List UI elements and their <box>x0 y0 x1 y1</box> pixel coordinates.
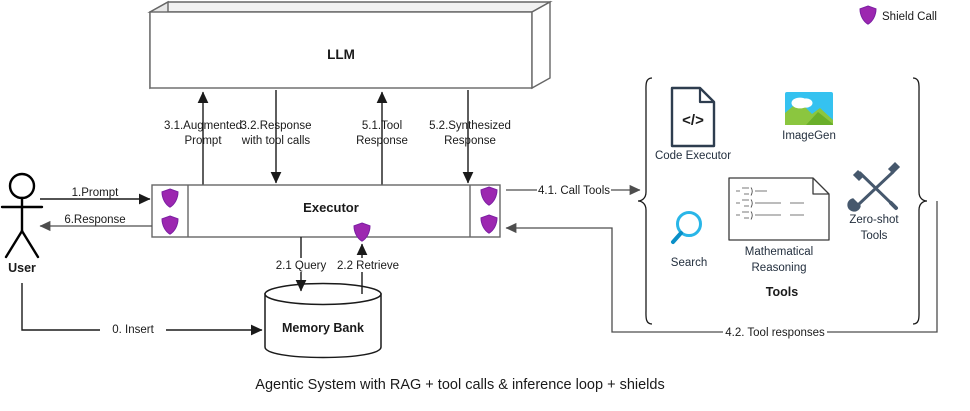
edge-label-retrieve: 2.2 Retrieve <box>337 260 399 272</box>
llm-label: LLM <box>327 47 355 62</box>
edge-label-call-tools: 4.1. Call Tools <box>538 185 610 197</box>
edge-label-tool-response-line1: 5.1.Tool <box>362 120 402 132</box>
memory-bank-label: Memory Bank <box>282 321 364 335</box>
tool-label-code-executor: Code Executor <box>655 150 731 162</box>
edge-label-response-tool-calls-line2: with tool calls <box>241 135 311 147</box>
edge-prompt: 1.Prompt <box>40 187 150 199</box>
shield-icon <box>354 223 370 241</box>
legend-label: Shield Call <box>882 11 937 23</box>
executor-label: Executor <box>303 200 359 215</box>
tool-code-executor[interactable]: </> Code Executor <box>655 88 731 162</box>
user-node[interactable]: User <box>2 174 42 275</box>
user-label: User <box>8 261 36 275</box>
edge-response: 6.Response <box>40 214 152 226</box>
shield-icon <box>860 6 876 24</box>
edge-label-response: 6.Response <box>64 214 125 226</box>
edge-label-query: 2.1 Query <box>276 260 327 272</box>
tool-label-math-line1: Mathematical <box>745 246 813 258</box>
edge-label-tool-response-line2: Response <box>356 135 408 147</box>
diagram-canvas: LLM 3.1.Augmented Prompt 3.2.Response wi… <box>0 0 970 411</box>
edge-label-prompt: 1.Prompt <box>72 187 119 199</box>
edge-label-response-tool-calls-line1: 3.2.Response <box>241 120 312 132</box>
edge-insert: 0. Insert <box>22 283 262 336</box>
tool-search[interactable]: Search <box>671 213 707 270</box>
edge-call-tools: 4.1. Call Tools <box>506 183 640 197</box>
tool-imagegen[interactable]: ImageGen <box>782 92 836 142</box>
tool-zero-shot-tools[interactable]: Zero-shot Tools <box>848 163 899 242</box>
edge-label-tool-responses: 4.2. Tool responses <box>725 327 825 339</box>
code-executor-glyph: </> <box>682 112 704 129</box>
memory-bank-node[interactable]: Memory Bank <box>265 284 381 358</box>
edge-tool-response: 5.1.Tool Response <box>356 92 408 186</box>
tool-label-search: Search <box>671 257 707 269</box>
tool-mathematical-reasoning[interactable]: Mathematical Reasoning <box>729 178 829 274</box>
diagram-caption: Agentic System with RAG + tool calls & i… <box>255 377 664 393</box>
edge-label-synthesized-response-line1: 5.2.Synthesized <box>429 120 511 132</box>
tools-group-label: Tools <box>766 285 798 299</box>
tool-label-zero-shot-line1: Zero-shot <box>849 214 899 226</box>
legend-shield-call: Shield Call <box>860 6 937 24</box>
edge-label-synthesized-response-line2: Response <box>444 135 496 147</box>
tool-label-math-line2: Reasoning <box>752 262 807 274</box>
edge-augmented-prompt: 3.1.Augmented Prompt <box>164 92 242 186</box>
tool-label-zero-shot-line2: Tools <box>861 230 888 242</box>
edge-label-augmented-prompt-line1: 3.1.Augmented <box>164 120 242 132</box>
edge-label-augmented-prompt-line2: Prompt <box>184 135 222 147</box>
llm-node[interactable]: LLM <box>150 2 550 88</box>
executor-node[interactable]: Executor <box>152 185 500 241</box>
edge-synthesized-response: 5.2.Synthesized Response <box>429 90 511 183</box>
tool-label-imagegen: ImageGen <box>782 130 836 142</box>
edge-response-with-tool-calls: 3.2.Response with tool calls <box>241 90 312 183</box>
edge-label-insert: 0. Insert <box>112 324 154 336</box>
